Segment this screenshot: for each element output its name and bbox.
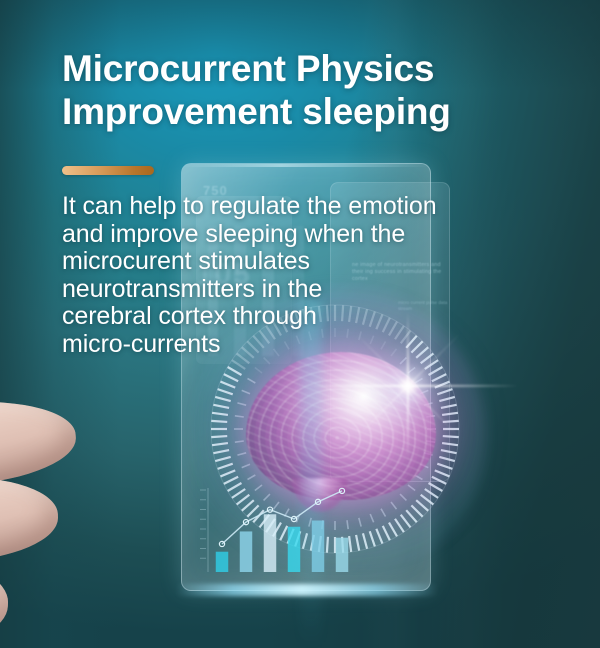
finger-ring [0, 555, 9, 648]
glass-top-edge [182, 164, 430, 167]
banner-stage: 750 105 ne image of neurotransmitters an… [0, 0, 600, 648]
description-text: It can help to regulate the emotion and … [62, 193, 532, 358]
finger-middle [0, 474, 59, 566]
finger-index [0, 395, 79, 495]
hand-holding-panel [0, 398, 210, 648]
glass-bottom-glow [176, 584, 438, 596]
hud-bar-chart [196, 484, 360, 580]
page-title: Microcurrent Physics Improvement sleepin… [62, 47, 532, 133]
gold-accent-bar [62, 166, 154, 175]
